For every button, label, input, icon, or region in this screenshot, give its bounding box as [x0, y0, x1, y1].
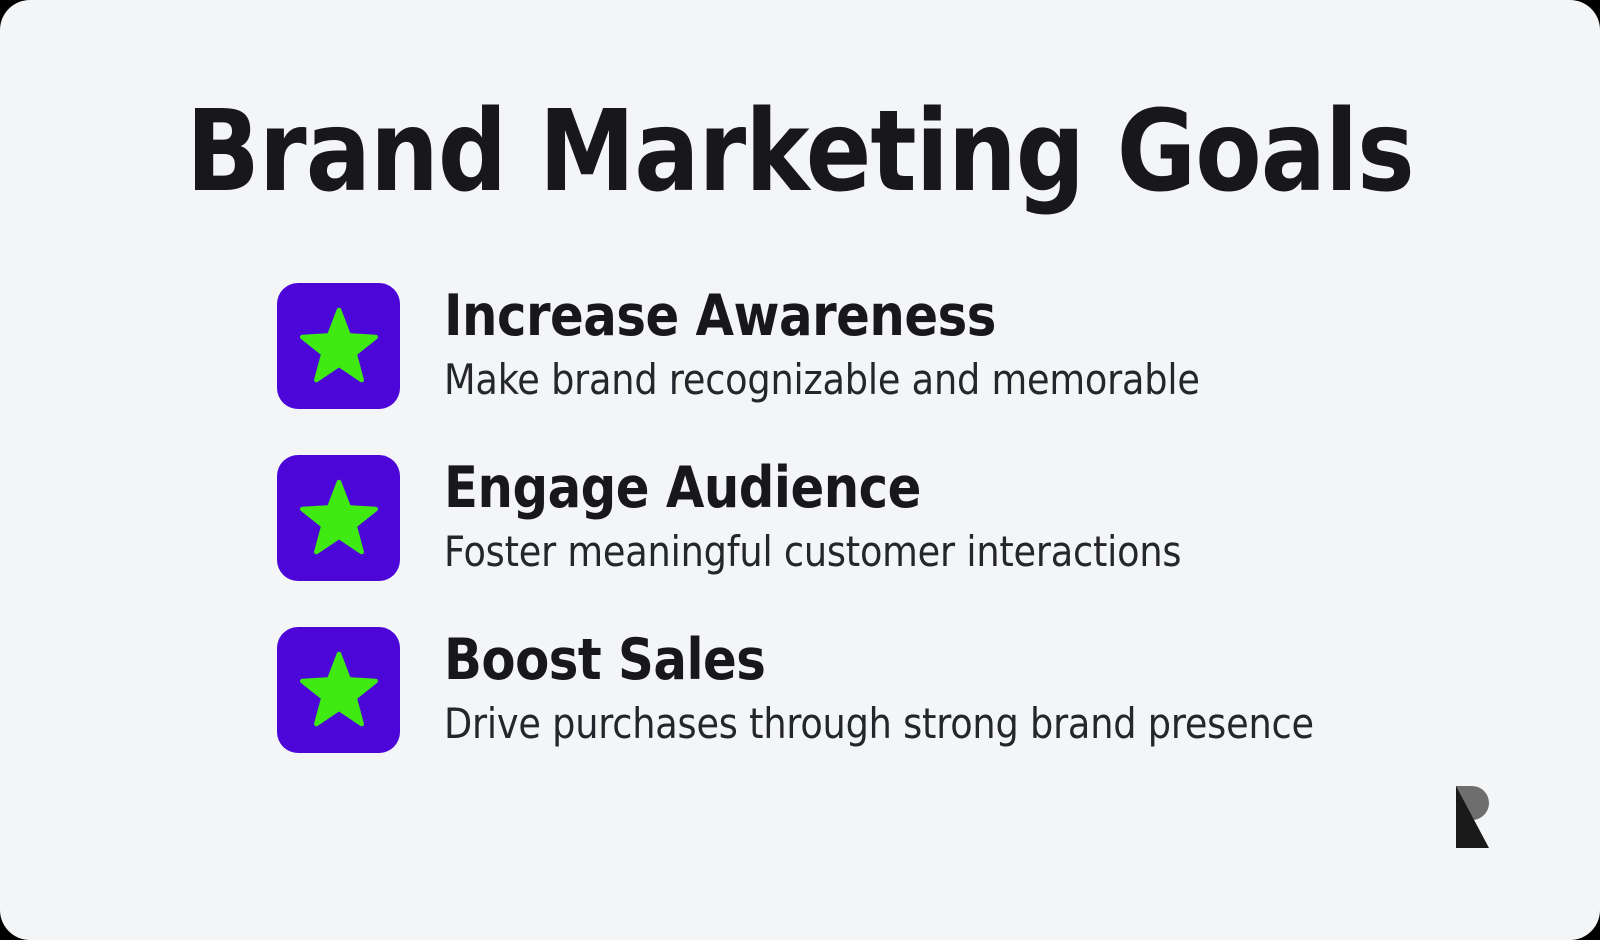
- page-title: Brand Marketing Goals: [32, 96, 1568, 208]
- star-icon: [300, 307, 378, 385]
- goal-title: Increase Awareness: [444, 285, 1368, 348]
- goal-icon-tile: [277, 283, 400, 409]
- goal-title: Boost Sales: [444, 629, 1368, 692]
- goal-subtitle: Make brand recognizable and memorable: [444, 356, 1368, 404]
- star-icon: [300, 651, 378, 729]
- goal-subtitle: Foster meaningful customer interactions: [444, 528, 1368, 576]
- goal-subtitle: Drive purchases through strong brand pre…: [444, 700, 1368, 748]
- goals-list: Increase Awareness Make brand recognizab…: [277, 283, 1397, 753]
- goal-text-block: Boost Sales Drive purchases through stro…: [400, 627, 1397, 748]
- goal-text-block: Engage Audience Foster meaningful custom…: [400, 455, 1397, 576]
- goal-text-block: Increase Awareness Make brand recognizab…: [400, 283, 1397, 404]
- goal-icon-tile: [277, 455, 400, 581]
- goal-icon-tile: [277, 627, 400, 753]
- list-item[interactable]: Engage Audience Foster meaningful custom…: [277, 455, 1397, 581]
- slide-card: Brand Marketing Goals Increase Awareness…: [0, 0, 1600, 940]
- goal-title: Engage Audience: [444, 457, 1368, 520]
- list-item[interactable]: Boost Sales Drive purchases through stro…: [277, 627, 1397, 753]
- star-icon: [300, 479, 378, 557]
- r-monogram-logo: [1442, 786, 1498, 848]
- list-item[interactable]: Increase Awareness Make brand recognizab…: [277, 283, 1397, 409]
